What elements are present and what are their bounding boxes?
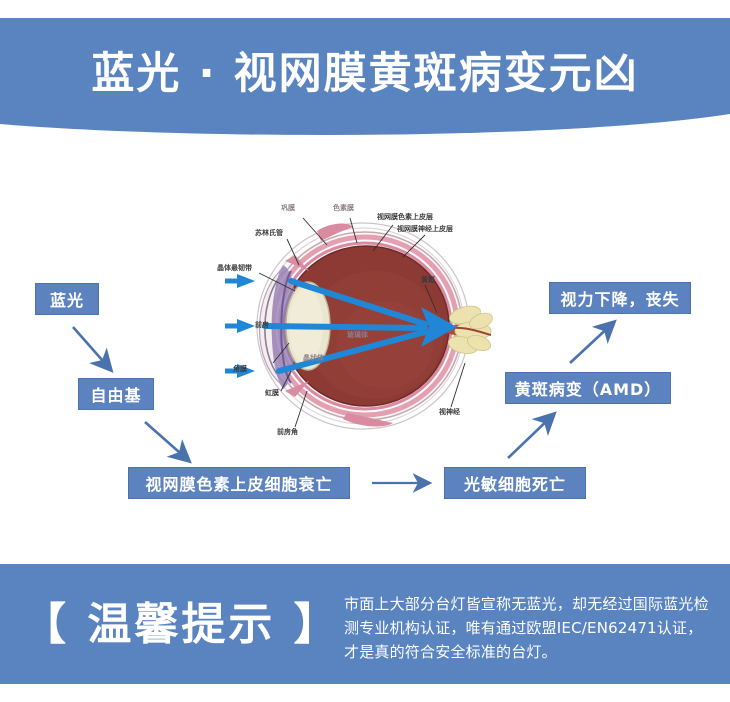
eye-label-anterior-chamber: 前房 <box>255 320 269 330</box>
flow-box-amd[interactable]: 黄斑病变（AMD） <box>505 372 671 404</box>
eye-label-iris: 虹膜 <box>265 388 279 398</box>
flow-box-photoreceptor-death[interactable]: 光敏细胞死亡 <box>444 467 586 499</box>
eye-label-lens-zonule: 晶体悬韧带 <box>217 263 252 273</box>
eye-label-macula: 黄斑 <box>421 275 435 285</box>
tip-title: 【 温馨提示 】 <box>22 588 341 652</box>
eye-anatomy-illustration: 巩膜 色素膜 视网膜色素上皮层 视网膜神经上皮层 苏林氏管 晶体悬韧带 前房 角… <box>225 195 495 445</box>
diagram-area: 巩膜 色素膜 视网膜色素上皮层 视网膜神经上皮层 苏林氏管 晶体悬韧带 前房 角… <box>0 150 730 550</box>
flow-box-free-radical[interactable]: 自由基 <box>78 378 154 410</box>
page-title: 蓝光 · 视网膜黄斑病变元凶 <box>0 48 730 100</box>
eye-label-retinal-pigment-epithelium: 视网膜色素上皮层 <box>377 212 433 222</box>
arrow-blue-light-to-free-radical <box>73 327 110 369</box>
arrow-amd-to-vision-loss <box>570 323 613 363</box>
header-banner: 蓝光 · 视网膜黄斑病变元凶 <box>0 18 730 138</box>
flow-box-vision-loss[interactable]: 视力下降，丧失 <box>549 282 691 314</box>
bottom-banner: 【 温馨提示 】 市面上大部分台灯皆宣称无蓝光，却无经过国际蓝光检测专业机构认证… <box>0 564 730 684</box>
tip-paragraph: 市面上大部分台灯皆宣称无蓝光，却无经过国际蓝光检测专业机构认证，唯有通过欧盟IE… <box>344 592 716 664</box>
arrow-free-radical-to-rpe <box>145 422 188 460</box>
eye-label-sclera: 巩膜 <box>281 203 295 213</box>
eye-label-vitreous: 玻璃体 <box>347 330 368 340</box>
arrow-photoreceptor-to-amd <box>508 415 553 458</box>
eye-label-cornea: 角膜 <box>233 364 247 374</box>
eye-label-retinal-neural-epithelium: 视网膜神经上皮层 <box>397 224 453 234</box>
flow-box-blue-light[interactable]: 蓝光 <box>35 283 99 315</box>
eye-label-uvea: 色素膜 <box>333 203 354 213</box>
eye-label-schlemms-canal: 苏林氏管 <box>255 228 283 238</box>
eye-label-lens: 晶状体 <box>303 353 324 363</box>
eye-label-anterior-chamber-angle: 前房角 <box>277 427 298 437</box>
flow-box-rpe-cell-death[interactable]: 视网膜色素上皮细胞衰亡 <box>128 467 350 499</box>
eye-label-optic-nerve: 视神经 <box>439 407 460 417</box>
